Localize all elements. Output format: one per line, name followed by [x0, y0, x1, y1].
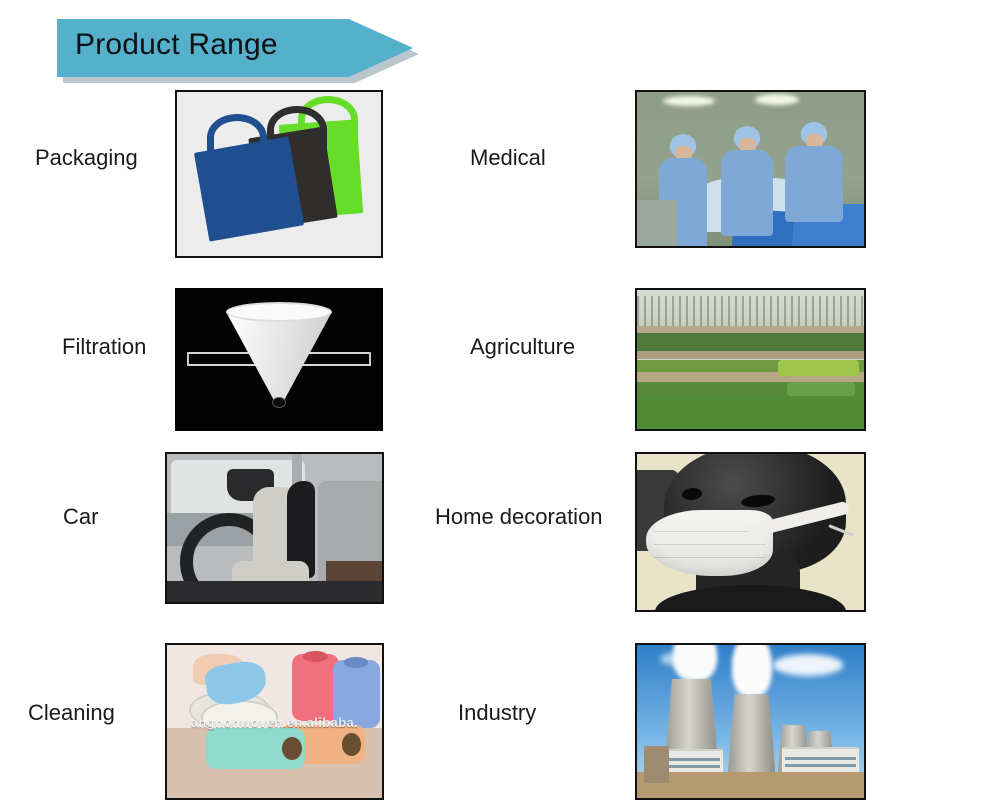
category-label-cleaning: Cleaning [28, 700, 115, 726]
category-label-filtration: Filtration [62, 334, 146, 360]
cone-tip [273, 398, 285, 407]
product-image-industry [635, 643, 866, 800]
page-title-banner: Product Range [57, 19, 419, 83]
product-row-4: Cleaning angnonwoven.en.alibaba. Industr [0, 643, 999, 800]
roll-mint [206, 728, 305, 769]
product-image-agriculture [635, 288, 866, 431]
roll-pink [292, 654, 339, 721]
category-label-home-decoration: Home decoration [435, 504, 603, 530]
category-label-industry: Industry [458, 700, 536, 726]
crop-field-illustration [637, 290, 864, 429]
product-image-filtration [175, 288, 383, 431]
product-image-car [165, 452, 384, 604]
product-image-home-decoration [635, 452, 866, 612]
product-row-3: Car Home decoration [0, 452, 999, 608]
mannequin-mask-illustration [637, 454, 864, 610]
page-title: Product Range [75, 28, 278, 62]
face-mask [646, 510, 773, 576]
filter-cone-illustration [177, 290, 381, 429]
category-label-medical: Medical [470, 145, 546, 171]
tote-bags-illustration [177, 92, 381, 256]
product-image-packaging [175, 90, 383, 258]
product-image-cleaning: angnonwoven.en.alibaba. [165, 643, 384, 800]
cone-rim [226, 302, 332, 322]
image-watermark: angnonwoven.en.alibaba. [167, 715, 382, 730]
car-interior-illustration [167, 454, 382, 602]
cooling-towers-illustration [637, 645, 864, 798]
operating-room-illustration [637, 92, 864, 246]
cooling-tower-2 [728, 694, 776, 774]
category-label-packaging: Packaging [35, 145, 138, 171]
product-row-2: Filtration Agriculture [0, 288, 999, 436]
cleaning-cloth-rolls-illustration: angnonwoven.en.alibaba. [167, 645, 382, 798]
category-label-car: Car [63, 504, 98, 530]
product-row-1: Packaging Medical [0, 90, 999, 260]
category-label-agriculture: Agriculture [470, 334, 575, 360]
product-image-medical [635, 90, 866, 248]
